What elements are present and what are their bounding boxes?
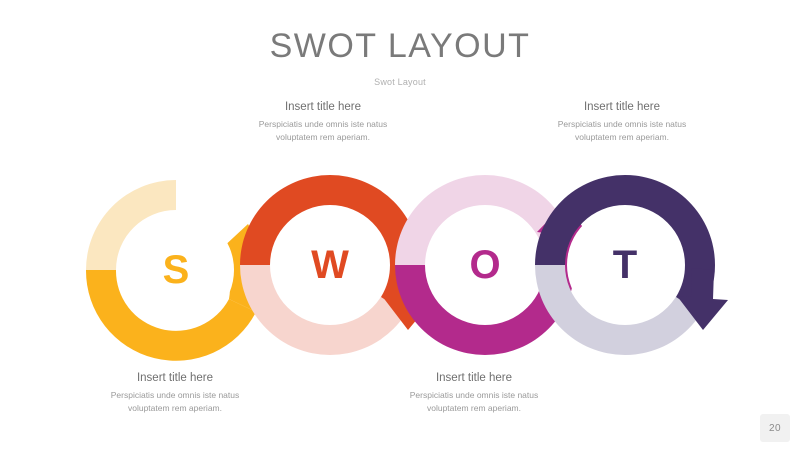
callout-opportunities-body: Perspiciatis unde omnis iste natus volup… — [379, 389, 569, 415]
callout-weaknesses[interactable]: Insert title here Perspiciatis unde omni… — [228, 99, 418, 144]
ring-w-letter: W — [311, 243, 349, 287]
callout-strengths[interactable]: Insert title here Perspiciatis unde omni… — [80, 370, 270, 415]
callout-weaknesses-title: Insert title here — [228, 99, 418, 115]
callout-opportunities[interactable]: Insert title here Perspiciatis unde omni… — [379, 370, 569, 415]
page-number-badge: 20 — [760, 414, 790, 442]
callout-strengths-title: Insert title here — [80, 370, 270, 386]
callout-threats-title: Insert title here — [527, 99, 717, 115]
slide-canvas: SWOT LAYOUT Swot Layout S — [0, 0, 800, 450]
page-number-text: 20 — [769, 423, 781, 434]
ring-t-letter: T — [613, 243, 637, 287]
ring-o-letter: O — [469, 243, 500, 287]
callout-opportunities-title: Insert title here — [379, 370, 569, 386]
callout-threats[interactable]: Insert title here Perspiciatis unde omni… — [527, 99, 717, 144]
ring-s-letter: S — [163, 248, 190, 292]
callout-threats-body: Perspiciatis unde omnis iste natus volup… — [527, 118, 717, 144]
callout-weaknesses-body: Perspiciatis unde omnis iste natus volup… — [228, 118, 418, 144]
callout-strengths-body: Perspiciatis unde omnis iste natus volup… — [80, 389, 270, 415]
swot-ring-t[interactable]: T — [535, 175, 728, 355]
